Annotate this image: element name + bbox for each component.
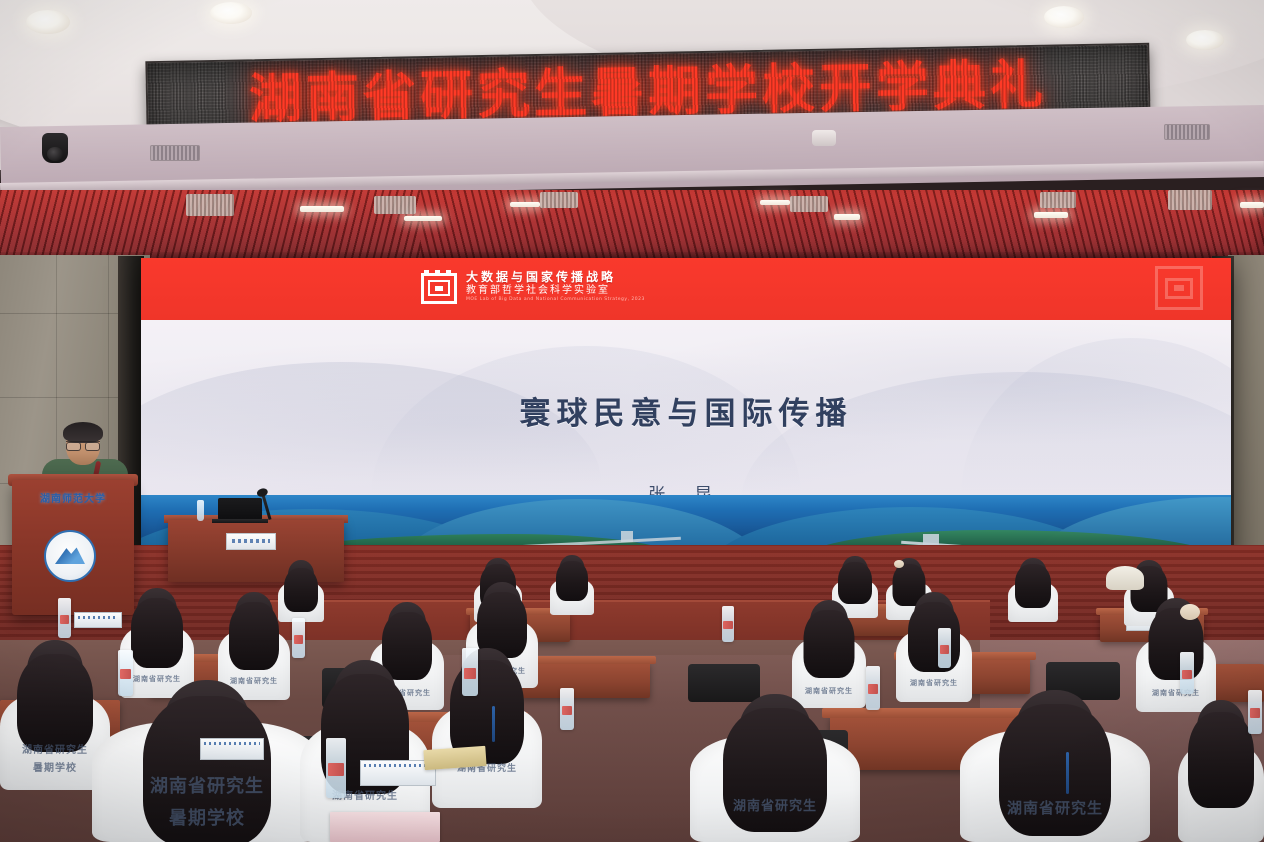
audience-member: 湖南省研究生 <box>792 600 866 708</box>
water-bottle <box>1248 690 1262 734</box>
ceiling-strip-light <box>1034 212 1068 218</box>
ceiling-service-panel <box>374 196 416 214</box>
water-bottle <box>722 606 734 642</box>
audience-member <box>1008 558 1058 622</box>
slide-header-line1: 大数据与国家传播战略 <box>466 271 645 284</box>
podium-nameplate: 湖南师范大学 <box>24 490 122 505</box>
ceiling-strip-light <box>834 214 860 220</box>
water-bottle <box>118 650 133 696</box>
lecture-hall-photo: 湖南省研究生暑期学校开学典礼 <box>0 0 1264 842</box>
laptop-base <box>212 519 268 523</box>
audience-member: 湖南省研究生 暑期学校 <box>92 680 322 842</box>
university-emblem-icon <box>44 530 96 582</box>
presenter-hair <box>63 422 103 443</box>
slide-header-watermark-icon <box>1155 266 1203 310</box>
ceiling-service-panel <box>540 192 578 208</box>
water-bottle <box>866 666 880 710</box>
baseball-cap <box>1106 566 1144 590</box>
water-bottle <box>462 648 478 696</box>
lanyard <box>1066 752 1069 794</box>
ceiling-downlight <box>1186 30 1224 50</box>
ceiling-strip-light <box>1240 202 1264 208</box>
slide-header-line3: MOE Lab of Big Data and National Communi… <box>466 298 645 303</box>
ceiling-downlight <box>210 2 252 24</box>
water-bottle <box>1180 652 1194 694</box>
water-bottle <box>58 598 71 638</box>
air-vent-grille <box>1164 124 1210 140</box>
slide-header-line2: 教育部哲学社会科学实验室 <box>466 285 645 296</box>
audience-shirt-text: 湖南省研究生 <box>300 787 430 802</box>
water-bottle <box>326 738 346 798</box>
ceiling-downlight <box>1044 6 1084 28</box>
audience-shirt-text: 湖南省研究生 <box>960 797 1150 818</box>
presenter-glasses-icon <box>66 441 100 449</box>
ceiling-service-panel <box>1040 192 1076 208</box>
laptop-screen <box>218 498 262 520</box>
water-bottle <box>197 500 204 521</box>
water-bottle <box>560 688 574 730</box>
ceiling-strip-light <box>300 206 344 212</box>
water-bottle <box>292 618 305 658</box>
audience-member: 湖南省研究生 <box>960 690 1150 842</box>
ceiling-service-panel <box>186 194 234 216</box>
slide-header-band: 大数据与国家传播战略 教育部哲学社会科学实验室 MOE Lab of Big D… <box>141 258 1231 320</box>
slide-title: 寰球民意与国际传播 <box>141 388 1231 433</box>
air-vent-grille <box>150 145 200 161</box>
ceiling-service-panel <box>790 196 828 212</box>
table-nameplate <box>226 533 276 550</box>
desk-nameplate <box>74 612 122 628</box>
desk-nameplate <box>200 738 264 760</box>
hair-tie <box>894 560 904 568</box>
smoke-detector-icon <box>812 130 836 146</box>
lab-seal-logo-icon <box>421 270 457 304</box>
audience-member: 湖南省研究生 <box>432 648 542 808</box>
ceiling-strip-light <box>510 202 540 207</box>
ceiling-downlight <box>26 10 70 34</box>
audience-shirt-text-2: 暑期学校 <box>92 804 322 830</box>
ceiling-strip-light <box>760 200 790 205</box>
great-wall-tower <box>621 531 633 542</box>
audience-member: 湖南省研究生 <box>896 592 972 702</box>
ceiling-strip-light <box>404 216 442 221</box>
slide-speaker-name: 张 昆 <box>141 480 1231 495</box>
water-bottle <box>938 628 951 668</box>
audience-member <box>550 555 594 615</box>
audience-shirt-text: 湖南省研究生 <box>896 678 972 688</box>
audience-shirt-text: 湖南省研究生 <box>690 795 860 814</box>
hair-tie <box>1180 604 1200 620</box>
slide-body: 寰球民意与国际传播 张 昆 教育部大数据与国家传播战略实验室 中央民族大学新闻与… <box>141 320 1231 495</box>
audience-member: 湖南省研究生 <box>690 694 860 842</box>
ceiling-service-panel <box>1168 190 1212 210</box>
lanyard <box>492 706 495 742</box>
audience-shirt-text: 湖南省研究生 <box>92 772 322 798</box>
security-camera-icon <box>42 133 68 163</box>
notebook <box>330 812 440 842</box>
